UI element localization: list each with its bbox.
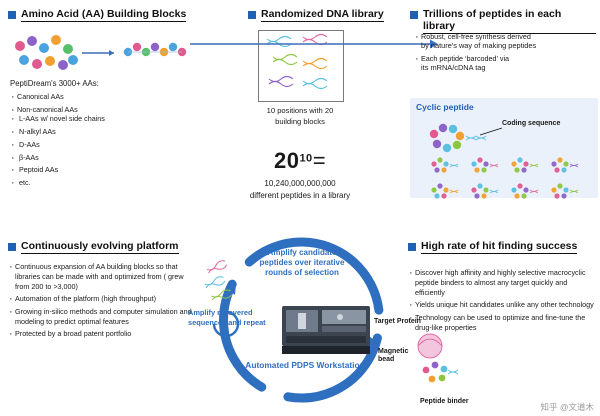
list-item: Peptoid AAs [10,165,196,175]
cyclic-peptide-block: Cyclic peptide Coding sequence [410,98,598,198]
panel-evolving-platform: Continuously evolving platform Continuou… [8,240,198,342]
trillions-line4: its mRNA/cDNA tag [414,63,596,74]
list-item: etc. [10,178,196,188]
list-item: D-AAs [10,140,196,150]
list-item: Yields unique hit candidates unlike any … [408,300,598,310]
dna-equation: 2010= [228,148,372,174]
cycle-dna-graphic [205,258,255,298]
list-item: Canonical AAs [10,92,196,102]
peptide-binder-graphic [404,330,496,400]
aa-sublist-items: L-AAs w/ novel side chains N-alkyl AAs D… [10,114,196,187]
bullet-square-icon [410,11,418,19]
panel-aa-building-blocks: Amino Acid (AA) Building Blocks [8,8,194,22]
cycle-bottom-label: Automated PDPS Workstation [232,360,378,370]
dna-header: Randomized DNA library [248,8,408,22]
target-protein-label: Target Protein [374,318,440,325]
bullet-square-icon [8,243,16,251]
aa-subtitle: PeptiDream's 3000+ AAs: [10,78,196,89]
platform-header: Continuously evolving platform [8,240,198,254]
equation-base: 20 [274,148,299,173]
bullet-square-icon [408,243,416,251]
list-item: Automation of the platform (high through… [8,294,198,304]
bullet-square-icon [8,11,16,19]
pdps-workstation-graphic [278,300,374,360]
trillions-title: Trillions of peptides in each library [423,8,596,34]
list-item: Growing in-silico methods and computer s… [8,307,198,326]
trillions-header: Trillions of peptides in each library [410,8,596,34]
equation-exponent: 10 [299,153,312,165]
panel-dna-library: Randomized DNA library [248,8,408,22]
cycle-left-label: Amplify recovered sequences and repeat [188,308,284,327]
aa-bead-chain-graphic [10,30,200,76]
platform-list-items: Continuous expansion of AA building bloc… [8,262,198,339]
hit-rate-header: High rate of hit finding success [408,240,598,254]
list-item: Continuous expansion of AA building bloc… [8,262,198,291]
aa-header: Amino Acid (AA) Building Blocks [8,8,194,22]
aa-list: Canonical AAs Non-canonical AAs L-AAs w/… [10,92,196,191]
dna-title: Randomized DNA library [261,8,384,22]
list-item: Robust, cell-free synthesis derived [414,32,596,42]
trillions-list: Robust, cell-free synthesis derived by n… [414,32,596,74]
bullet-square-icon [248,11,256,19]
list-item: β-AAs [10,153,196,163]
list-item: Discover high affinity and highly select… [408,268,598,297]
trillions-list-items-2: Each peptide ‘barcoded’ via [414,54,596,64]
hit-rate-title: High rate of hit finding success [421,240,577,254]
list-item: L-AAs w/ novel side chains [10,114,196,124]
list-item: N-alkyl AAs [10,127,196,137]
aa-list-items: Canonical AAs Non-canonical AAs [10,92,196,114]
list-item: Non-canonical AAs [10,105,196,115]
list-item: Protected by a broad patent portfolio [8,329,198,339]
equation-equals: = [313,148,326,173]
dna-result: 10,240,000,000,000 different peptides in… [226,178,374,201]
platform-title: Continuously evolving platform [21,240,179,254]
trillions-list-items: Robust, cell-free synthesis derived [414,32,596,42]
peptide-binder-label: Peptide binder [420,398,508,405]
aa-title: Amino Acid (AA) Building Blocks [21,8,186,22]
panel-trillions: Trillions of peptides in each library [410,8,596,34]
list-item: Each peptide ‘barcoded’ via [414,54,596,64]
main-arrow-graphic [190,36,440,52]
watermark: 知乎 @文道木 [541,401,595,413]
dna-caption: 10 positions with 20 building blocks [238,105,362,127]
trillions-line2: by nature's way of making peptides [414,41,596,52]
